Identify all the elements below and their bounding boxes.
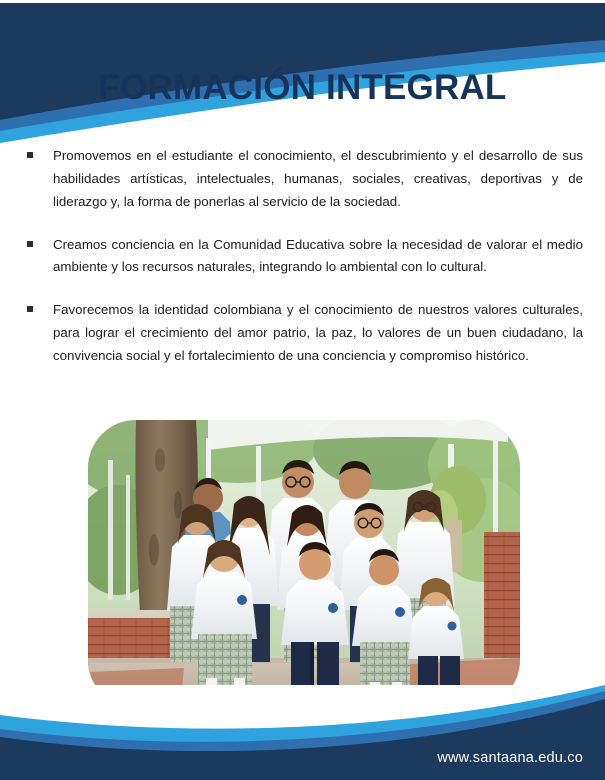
poster-page: FORMACIÓN INTEGRAL Promovemos en el estu…: [0, 0, 605, 780]
list-item: Favorecemos la identidad colombiana y el…: [27, 299, 583, 368]
bullet-text: Creamos conciencia en la Comunidad Educa…: [53, 234, 583, 280]
website-url[interactable]: www.santaana.edu.co: [437, 750, 583, 766]
square-bullet-icon: [27, 241, 33, 247]
list-item: Creamos conciencia en la Comunidad Educa…: [27, 234, 583, 280]
bullet-text: Favorecemos la identidad colombiana y el…: [53, 299, 583, 368]
square-bullet-icon: [27, 306, 33, 312]
group-photo-students: [88, 420, 520, 708]
list-item: Promovemos en el estudiante el conocimie…: [27, 145, 583, 214]
square-bullet-icon: [27, 152, 33, 158]
page-title: FORMACIÓN INTEGRAL: [0, 68, 605, 108]
bullet-list: Promovemos en el estudiante el conocimie…: [27, 145, 583, 388]
group-photo-image: [88, 420, 520, 708]
bullet-text: Promovemos en el estudiante el conocimie…: [53, 145, 583, 214]
